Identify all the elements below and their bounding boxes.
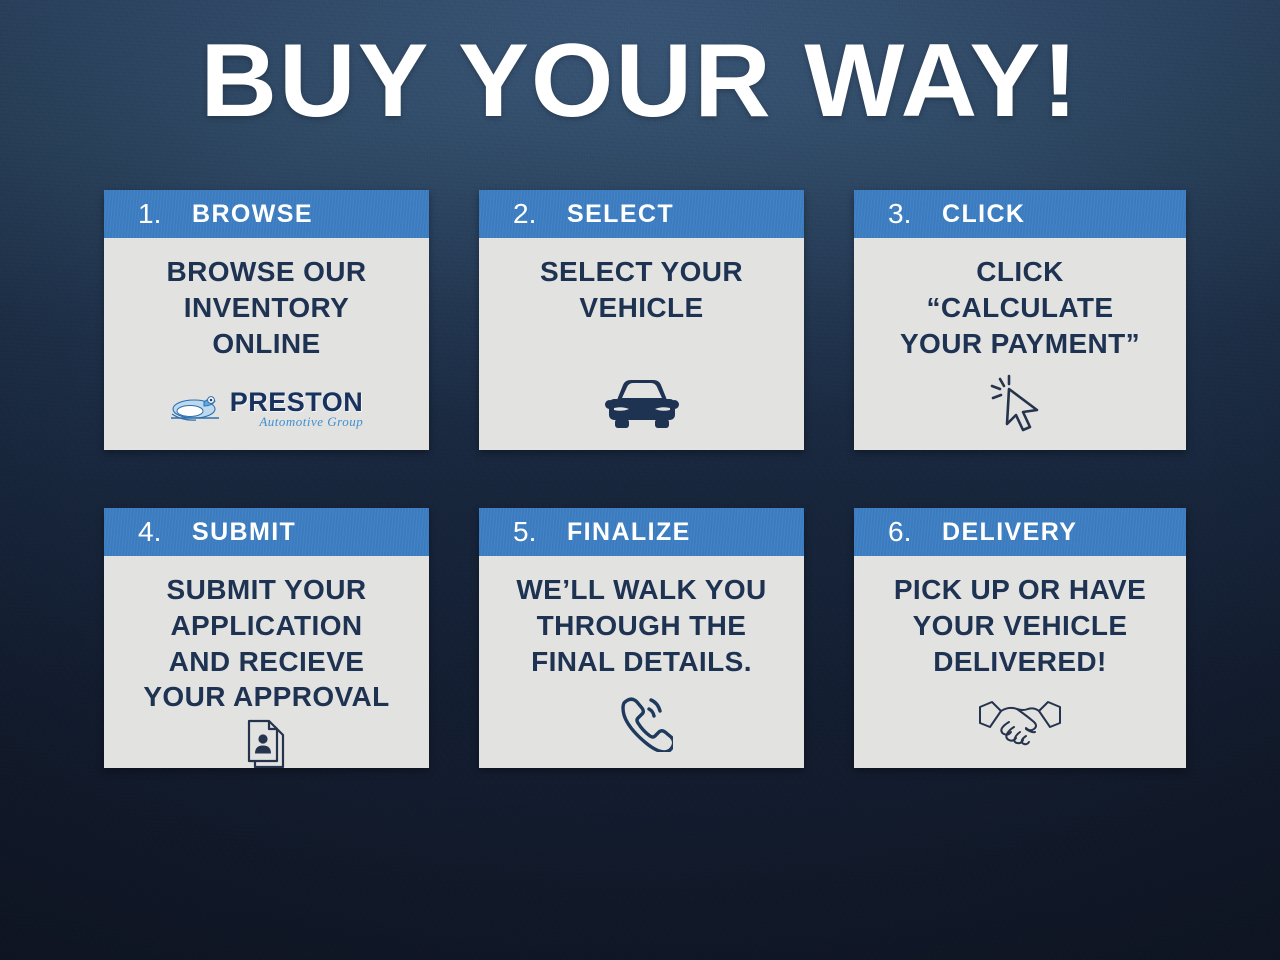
step-card-browse[interactable]: 1. BROWSE BROWSE OUR INVENTORY ONLINE [104, 190, 429, 450]
page-title: BUY YOUR WAY! [0, 26, 1280, 136]
step-card-submit[interactable]: 4. SUBMIT SUBMIT YOUR APPLICATION AND RE… [104, 508, 429, 768]
car-front-icon [603, 372, 681, 434]
step-text: SELECT YOUR VEHICLE [540, 254, 743, 326]
step-number: 4. [138, 516, 192, 548]
step-header: 3. CLICK [854, 190, 1186, 238]
step-card-finalize[interactable]: 5. FINALIZE WE’LL WALK YOU THROUGH THE F… [479, 508, 804, 768]
step-header: 2. SELECT [479, 190, 804, 238]
application-document-person-icon [239, 715, 295, 768]
step-number: 6. [888, 516, 942, 548]
step-body: CLICK “CALCULATE YOUR PAYMENT” [854, 238, 1186, 450]
step-card-select[interactable]: 2. SELECT SELECT YOUR VEHICLE [479, 190, 804, 450]
mouse-cursor-click-icon [987, 372, 1053, 434]
steps-grid: 1. BROWSE BROWSE OUR INVENTORY ONLINE [104, 190, 1186, 768]
step-label: CLICK [942, 200, 1025, 229]
step-label: DELIVERY [942, 518, 1077, 547]
frog-mark-icon [170, 392, 226, 426]
step-body: SUBMIT YOUR APPLICATION AND RECIEVE YOUR… [104, 556, 429, 768]
phone-ringing-icon [611, 690, 673, 752]
step-label: FINALIZE [567, 518, 691, 547]
step-text: WE’LL WALK YOU THROUGH THE FINAL DETAILS… [516, 572, 766, 679]
step-text: CLICK “CALCULATE YOUR PAYMENT” [900, 254, 1140, 361]
step-text: PICK UP OR HAVE YOUR VEHICLE DELIVERED! [894, 572, 1146, 679]
step-header: 5. FINALIZE [479, 508, 804, 556]
preston-tagline: Automotive Group [259, 415, 363, 428]
preston-automotive-group-logo: PRESTON Automotive Group [170, 389, 364, 428]
step-header: 1. BROWSE [104, 190, 429, 238]
step-header: 4. SUBMIT [104, 508, 429, 556]
step-number: 5. [513, 516, 567, 548]
step-body: BROWSE OUR INVENTORY ONLINE PRE [104, 238, 429, 450]
preston-wordmark: PRESTON [230, 389, 364, 416]
step-label: BROWSE [192, 200, 313, 229]
step-number: 1. [138, 198, 192, 230]
step-card-click[interactable]: 3. CLICK CLICK “CALCULATE YOUR PAYMENT” [854, 190, 1186, 450]
step-body: SELECT YOUR VEHICLE [479, 238, 804, 450]
step-header: 6. DELIVERY [854, 508, 1186, 556]
step-number: 2. [513, 198, 567, 230]
step-body: WE’LL WALK YOU THROUGH THE FINAL DETAILS… [479, 556, 804, 768]
step-number: 3. [888, 198, 942, 230]
step-card-delivery[interactable]: 6. DELIVERY PICK UP OR HAVE YOUR VEHICLE… [854, 508, 1186, 768]
poster-background: BUY YOUR WAY! 1. BROWSE BROWSE OUR INVEN… [0, 0, 1280, 960]
step-label: SELECT [567, 200, 674, 229]
step-body: PICK UP OR HAVE YOUR VEHICLE DELIVERED! [854, 556, 1186, 768]
step-text: BROWSE OUR INVENTORY ONLINE [167, 254, 367, 361]
handshake-icon [976, 690, 1064, 752]
step-label: SUBMIT [192, 518, 296, 547]
step-text: SUBMIT YOUR APPLICATION AND RECIEVE YOUR… [143, 572, 389, 715]
